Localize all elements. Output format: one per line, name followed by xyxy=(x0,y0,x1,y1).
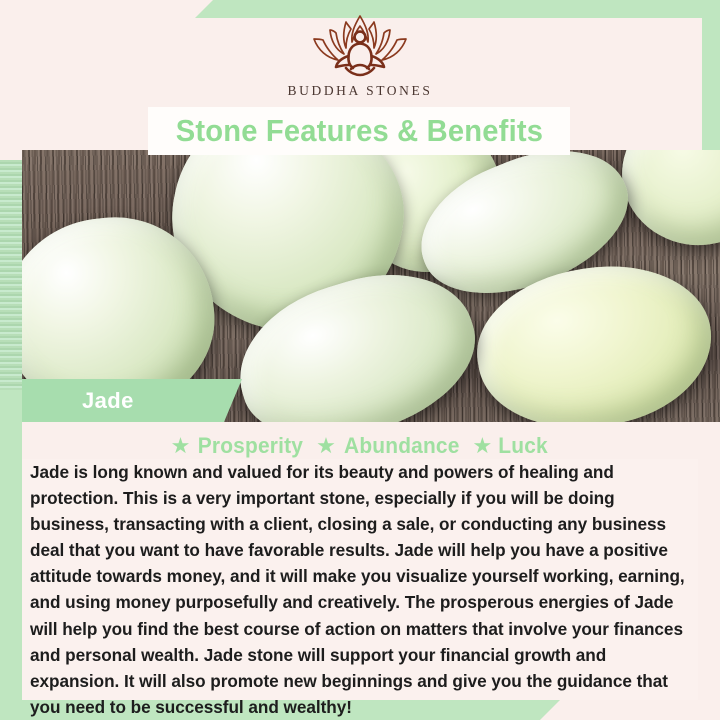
star-icon: ★ xyxy=(171,435,191,457)
star-icon: ★ xyxy=(473,435,493,457)
brand-name: BUDDHA STONES xyxy=(288,83,433,99)
description-card: Jade is long known and valued for its be… xyxy=(22,459,698,700)
title-banner: Stone Features & Benefits xyxy=(148,107,570,155)
lotus-meditation-icon xyxy=(296,12,424,82)
star-icon: ★ xyxy=(316,435,336,457)
benefit-item-prosperity: ★ Prosperity xyxy=(171,433,307,459)
benefit-item-luck: ★ Luck xyxy=(473,433,550,459)
page-title: Stone Features & Benefits xyxy=(175,113,542,149)
stone-name-label: Jade xyxy=(82,388,134,414)
product-info-poster: BUDDHA STONES Stone Features & Benefits … xyxy=(0,0,720,720)
description-paragraph: Jade is long known and valued for its be… xyxy=(30,459,690,720)
stone-name-banner: Jade xyxy=(22,379,242,422)
benefit-label: Luck xyxy=(499,433,549,459)
benefit-label: Prosperity xyxy=(198,433,303,459)
benefit-item-abundance: ★ Abundance xyxy=(316,433,462,459)
benefit-label: Abundance xyxy=(344,433,460,459)
decorative-frame-left-texture xyxy=(0,160,22,390)
benefits-row: ★ Prosperity ★ Abundance ★ Luck xyxy=(22,430,698,462)
brand-logo: BUDDHA STONES xyxy=(0,12,720,108)
